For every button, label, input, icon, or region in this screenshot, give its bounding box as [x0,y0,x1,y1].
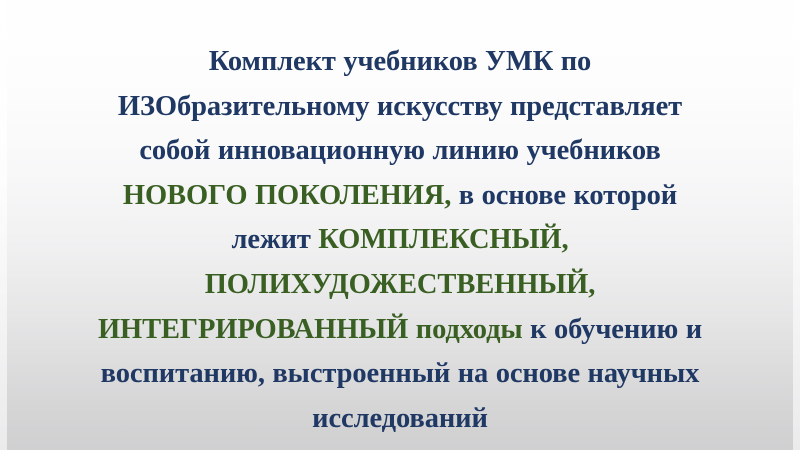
text-line-8: воспитанию, выстроенный на основе научны… [26,352,774,397]
text-line-1: Комплект учебников УМК по [26,40,774,85]
text-line-9: исследований [26,397,774,442]
text-run-1-1: Комплект учебников УМК по [209,46,591,77]
text-line-6: ПОЛИХУДОЖЕСТВЕННЫЙ, [26,263,774,308]
text-run-3-1: собой инновационную линию учебников [139,135,660,166]
text-run-8-1: воспитанию, выстроенный на основе научны… [101,358,700,389]
text-run-7-2: к обучению и [523,314,702,345]
text-line-3: собой инновационную линию учебников [26,129,774,174]
text-line-4: НОВОГО ПОКОЛЕНИЯ, в основе которой [26,174,774,219]
text-line-7: ИНТЕГРИРОВАННЫЙ подходы к обучению и [26,308,774,353]
text-run-5-1: лежит [232,224,319,255]
text-line-5: лежит КОМПЛЕКСНЫЙ, [26,218,774,263]
text-run-4-2: в основе которой [451,180,677,211]
text-run-4-1: НОВОГО ПОКОЛЕНИЯ, [123,180,451,211]
slide-canvas: Комплект учебников УМК поИЗОбразительном… [0,0,800,450]
text-run-2-1: ИЗОбразительному искусству представляет [118,91,682,122]
text-run-5-2: КОМПЛЕКСНЫЙ, [318,224,568,255]
text-run-9-1: исследований [312,403,488,434]
text-line-2: ИЗОбразительному искусству представляет [26,85,774,130]
slide-body-text: Комплект учебников УМК поИЗОбразительном… [26,40,774,441]
text-run-6-1: ПОЛИХУДОЖЕСТВЕННЫЙ, [205,269,596,300]
text-run-7-1: ИНТЕГРИРОВАННЫЙ подходы [98,314,523,345]
